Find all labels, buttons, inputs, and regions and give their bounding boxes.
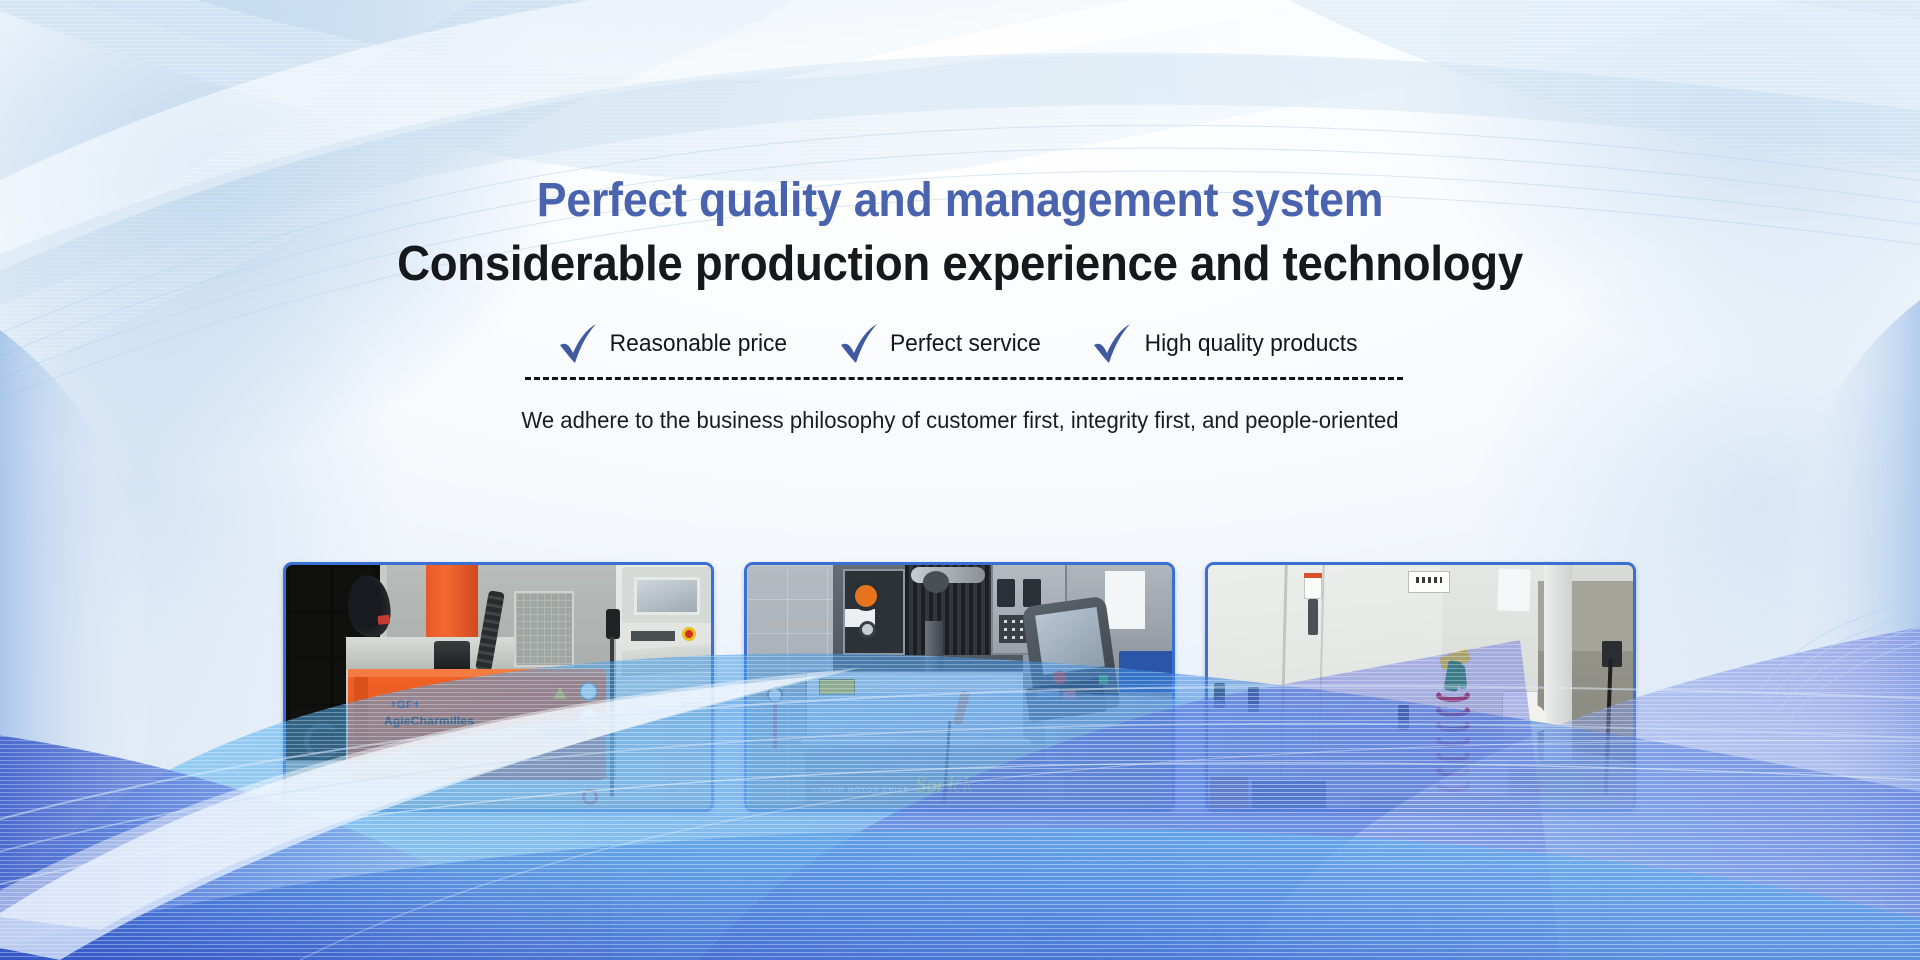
wall-tool (773, 703, 777, 749)
photo-cnc-machining-center[interactable] (1205, 562, 1636, 812)
connector-port (1023, 579, 1041, 607)
machine-brand-line-2: AgieCharmilles (384, 715, 474, 728)
tank-top-edge (348, 669, 606, 677)
coiled-hose (304, 723, 342, 759)
base-accent-stripe (352, 775, 602, 780)
promo-banner: Perfect quality and management system Co… (0, 0, 1920, 960)
pressure-gauge (579, 707, 598, 726)
pressure-gauge (579, 682, 598, 701)
feature-list: Reasonable price Perfect service High qu… (0, 322, 1920, 366)
headline-secondary: Considerable production experience and t… (67, 238, 1853, 290)
floor-box (1326, 795, 1360, 809)
photo-reflection-edm-machine-agiecharmilles: +GF+AgieCharmilles HSFS (283, 816, 714, 960)
check-icon (557, 322, 599, 366)
headline-primary: Perfect quality and management system (67, 176, 1853, 226)
photo-edm-machine-agiecharmilles[interactable]: +GF+ AgieCharmilles HSFS (283, 562, 714, 812)
check-icon (838, 322, 880, 366)
workshop-floor (286, 801, 711, 809)
check-icon (1091, 322, 1133, 366)
feature-item-high-quality-products: High quality products (1091, 322, 1363, 366)
background-waves-bottom (0, 0, 1920, 960)
pendant-stand (1045, 714, 1074, 809)
floor-marking (582, 789, 598, 805)
feature-label: Reasonable price (610, 331, 787, 357)
wire-reel (851, 581, 881, 611)
pendant-screen (1035, 607, 1105, 675)
feature-item-reasonable-price: Reasonable price (557, 322, 792, 366)
feature-label: Perfect service (890, 331, 1041, 357)
floor-bucket (1210, 777, 1248, 809)
enclosure-column (1544, 565, 1572, 761)
photo-gallery: +GF+ AgieCharmilles HSFS (283, 562, 1637, 814)
tagline: We adhere to the business philosophy of … (38, 405, 1881, 435)
emergency-stop-button (682, 627, 696, 641)
photo-content: +GF+ AgieCharmilles HSFS (286, 565, 711, 809)
wall-gauge (767, 687, 783, 703)
feature-label: High quality products (1144, 331, 1357, 357)
posted-sheet (1105, 571, 1145, 629)
photo-wire-edm-sodick[interactable]: LINEAR MOTOR DRIVE Sodick (744, 562, 1175, 812)
photo-reflection-wire-edm-sodick: LINEAR MOTOR DRIVESodick (744, 816, 1175, 960)
dashed-divider (525, 377, 1403, 380)
status-light-green (1099, 675, 1108, 684)
drive-motor (923, 571, 949, 593)
background-haze-top-right (1135, 0, 1920, 543)
workshop-floor (747, 803, 1172, 809)
blue-parts-bin (1119, 651, 1172, 693)
background-waves-top (0, 0, 1920, 960)
tank-rail (354, 677, 368, 777)
photo-reflections: +GF+AgieCharmilles HSFS LINEAR MOTOR DRI… (283, 816, 1637, 960)
tank-rail (801, 739, 1031, 746)
wire-mesh-guard (514, 591, 574, 667)
connector-port (997, 579, 1015, 607)
control-screen (634, 577, 700, 615)
cabinet-logo: HSFS (680, 701, 704, 711)
floor-shadow (1252, 781, 1326, 809)
feature-item-perfect-service: Perfect service (838, 322, 1045, 366)
machine-sub-label: LINEAR MOTOR DRIVE (813, 787, 909, 795)
photo-content: LINEAR MOTOR DRIVE Sodick (747, 565, 1172, 809)
photo-content (1208, 565, 1633, 809)
control-buttons (631, 631, 675, 641)
photo-reflection-cnc-machining-center: 金属加工 (1205, 816, 1636, 960)
door-handles (1208, 565, 1448, 805)
hand-pendant (606, 609, 620, 639)
wire-guide-roller (859, 621, 876, 638)
pendant-cord (610, 637, 614, 797)
emergency-stop-button (1053, 671, 1066, 684)
cleaning-rag (1505, 703, 1548, 735)
yellow-warning-label (819, 679, 855, 695)
machine-brand-line-1: +GF+ (390, 699, 420, 711)
manufacturer-logo-icon (1528, 779, 1542, 793)
posted-paper (1497, 568, 1530, 611)
machine-head (426, 565, 478, 645)
headline-block: Perfect quality and management system Co… (0, 0, 1920, 290)
